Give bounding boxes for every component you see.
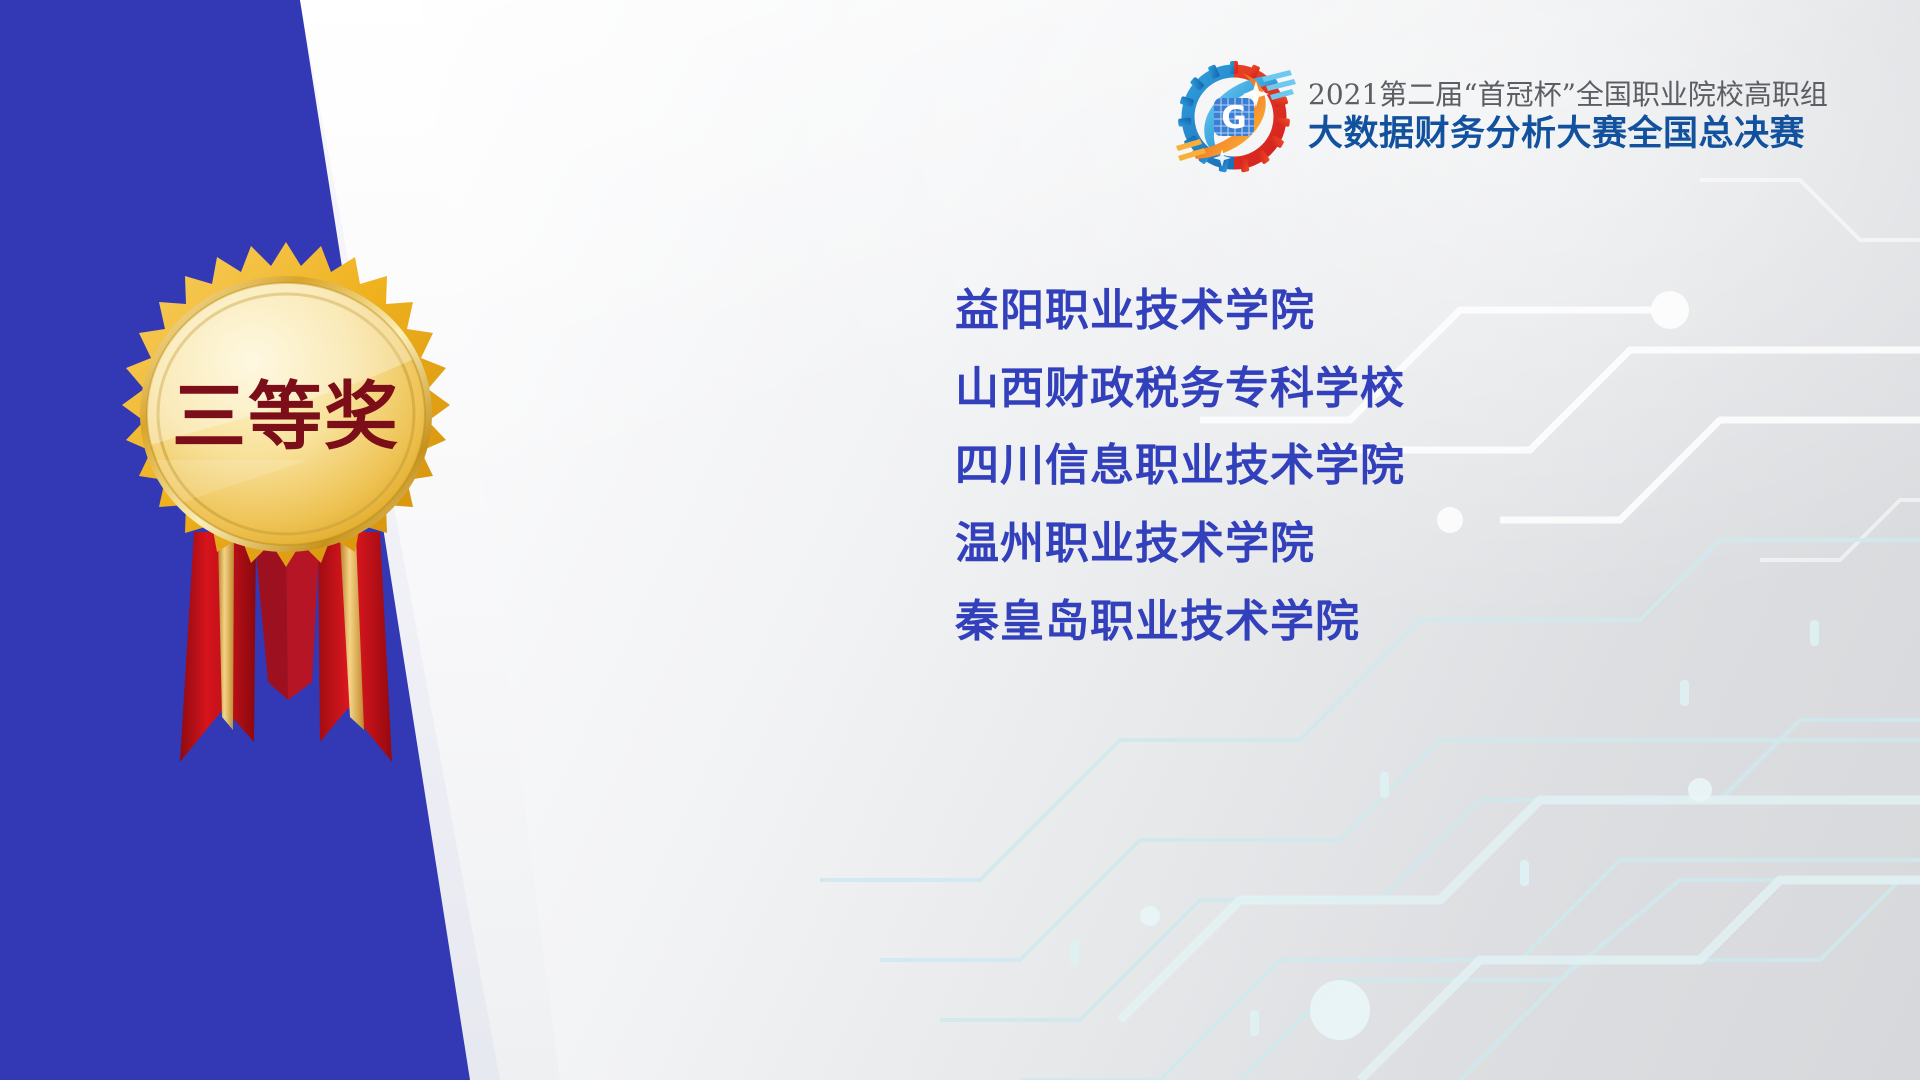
list-item: 山西财政税务专科学校 [955,366,1785,413]
competition-title-line1: 2021第二届“首冠杯”全国职业院校高职组 [1308,79,1910,111]
competition-header: G 2021第二届“首冠杯”全国职业院校高职组 大数据财务分析大赛全国总决赛 [1170,52,1910,182]
medal-badge-icon: 三等奖 [108,236,464,592]
medal-label: 三等奖 [172,374,400,460]
competition-logo-icon: G [1170,53,1298,181]
logo-letter: G [1221,100,1246,136]
competition-title-block: 2021第二届“首冠杯”全国职业院校高职组 大数据财务分析大赛全国总决赛 [1304,79,1910,156]
list-item: 益阳职业技术学院 [955,288,1785,335]
award-medal: 三等奖 [108,236,464,776]
list-item: 秦皇岛职业技术学院 [955,599,1785,646]
competition-title-line2: 大数据财务分析大赛全国总决赛 [1308,114,1910,155]
list-item: 温州职业技术学院 [955,521,1785,568]
award-slide: 三等奖 [0,0,1920,1080]
winners-list: 益阳职业技术学院 山西财政税务专科学校 四川信息职业技术学院 温州职业技术学院 … [955,288,1785,645]
list-item: 四川信息职业技术学院 [955,443,1785,490]
